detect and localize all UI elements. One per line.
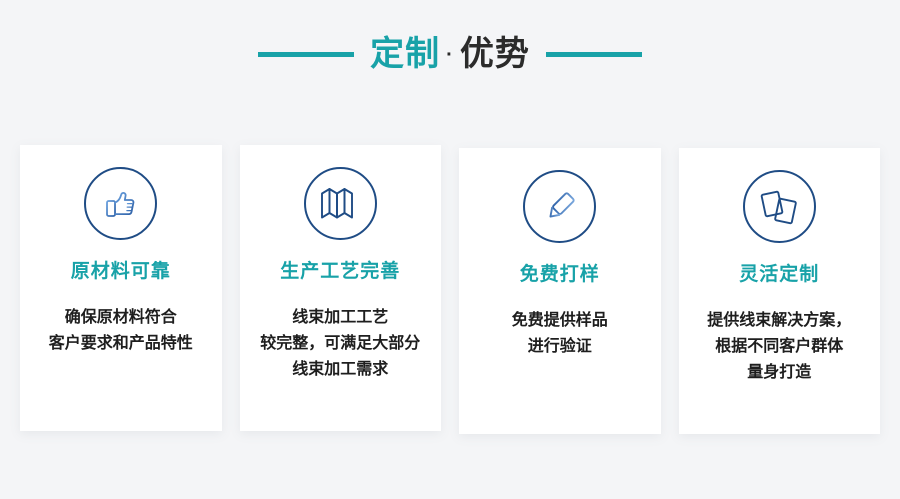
body-line: 线束加工需求 [260,357,420,383]
feature-card[interactable]: 原材料可靠 确保原材料符合 客户要求和产品特性 [20,145,222,431]
header-rule-right [546,52,642,57]
page-title-accent: 定制 [370,37,440,71]
feature-card-title: 原材料可靠 [71,262,171,281]
folded-map-icon [320,187,360,221]
feature-card-title: 灵活定制 [739,265,819,284]
body-line: 进行验证 [512,334,608,360]
body-line: 客户要求和产品特性 [49,331,193,357]
icon-ring [84,167,157,240]
icon-ring [523,170,596,243]
body-line: 量身打造 [707,360,851,386]
body-line: 免费提供样品 [512,308,608,334]
feature-card-title: 生产工艺完善 [280,262,400,281]
icon-ring [743,170,816,243]
feature-card[interactable]: 免费打样 免费提供样品 进行验证 [459,148,661,434]
feature-card-body: 免费提供样品 进行验证 [512,308,608,360]
feature-card-body: 线束加工工艺 较完整，可满足大部分 线束加工需求 [260,305,420,383]
page-title-separator: · [440,45,460,65]
feature-card-body: 确保原材料符合 客户要求和产品特性 [49,305,193,357]
page-title-dark: 优势 [460,37,530,71]
feature-card-list: 原材料可靠 确保原材料符合 客户要求和产品特性 生产工艺完善 线束加工工艺 较完… [20,145,880,434]
section-header: 定制 · 优势 [0,0,900,108]
icon-ring [304,167,377,240]
feature-card-title: 免费打样 [520,265,600,284]
feature-card[interactable]: 灵活定制 提供线束解决方案， 根据不同客户群体 量身打造 [679,148,881,434]
body-line: 确保原材料符合 [49,305,193,331]
body-line: 较完整，可满足大部分 [260,331,420,357]
page-title: 定制 · 优势 [370,37,530,71]
feature-card[interactable]: 生产工艺完善 线束加工工艺 较完整，可满足大部分 线束加工需求 [240,145,442,431]
body-line: 提供线束解决方案， [707,308,851,334]
header-rule-left [258,52,354,57]
body-line: 线束加工工艺 [260,305,420,331]
two-cards-icon [759,188,799,226]
feature-card-body: 提供线束解决方案， 根据不同客户群体 量身打造 [707,308,851,386]
body-line: 根据不同客户群体 [707,334,851,360]
pencil-icon [541,188,579,226]
thumbs-up-icon [102,185,140,223]
